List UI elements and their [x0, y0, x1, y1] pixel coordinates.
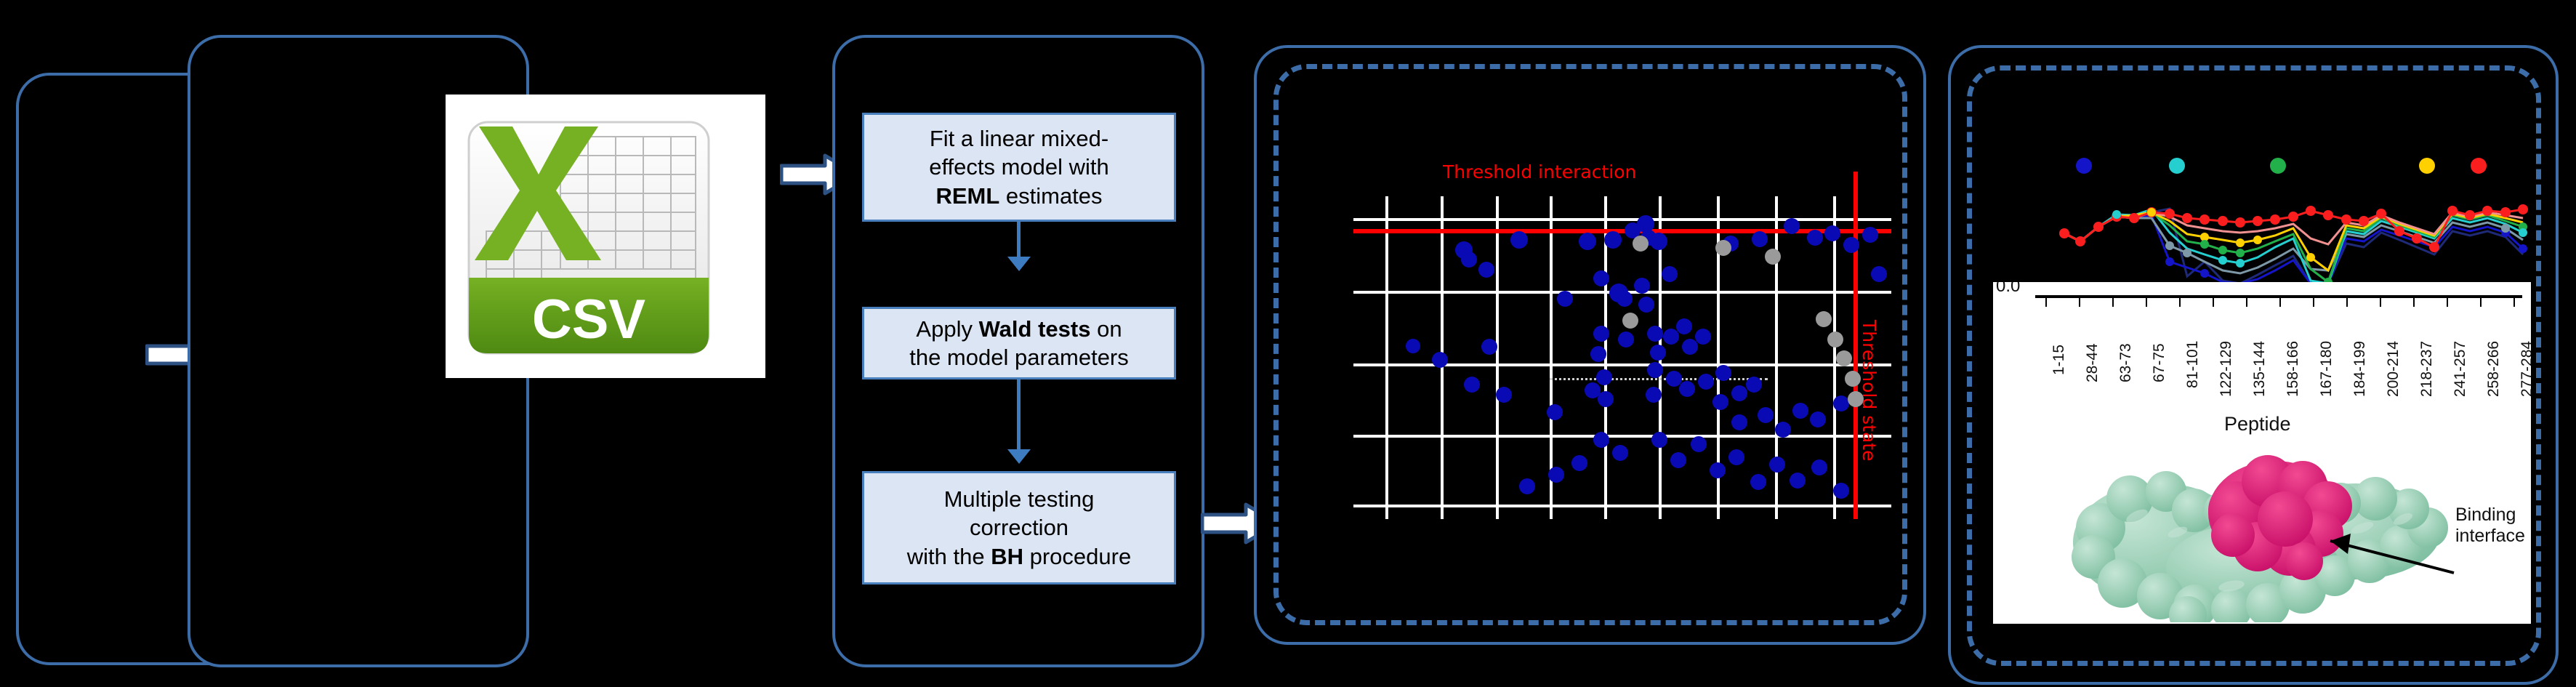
- data-point: [1579, 233, 1596, 250]
- data-point: [1746, 377, 1762, 393]
- legend-dot-green: [2270, 158, 2286, 174]
- outlier-point: [1827, 332, 1843, 347]
- peptide-tick-label: 200-214: [2385, 341, 2402, 397]
- data-point: [1496, 387, 1512, 403]
- binding-interface-annotation: Binding interface: [2455, 505, 2525, 547]
- data-point: [1691, 436, 1707, 452]
- outlier-point: [1765, 249, 1781, 265]
- x-tick: [2413, 298, 2415, 307]
- legend-dot-cyan: [2169, 158, 2185, 174]
- peptide-tick-label: 1-15: [2050, 345, 2068, 375]
- step-bh-line1: Multiple testing: [944, 486, 1095, 512]
- x-axis-line: [2035, 295, 2522, 298]
- x-tick: [2447, 298, 2448, 307]
- gridline-h-3: [1353, 435, 1891, 438]
- outlier-point: [1622, 313, 1638, 329]
- connector-reml-wald: [1017, 222, 1021, 260]
- csv-icon-graphic: CSV: [446, 95, 765, 378]
- outlier-point: [1633, 236, 1649, 252]
- x-tick: [2346, 298, 2348, 307]
- step-wald-keyword: Wald tests: [979, 316, 1091, 342]
- data-point: [1617, 291, 1633, 307]
- data-point: [1510, 231, 1528, 249]
- step-bh-line3a: with the: [907, 544, 991, 569]
- peptide-tick-label: 167-180: [2318, 341, 2335, 397]
- step-reml-line2: effects model with: [929, 154, 1109, 180]
- data-point: [1406, 339, 1420, 353]
- x-tick: [2213, 298, 2214, 307]
- scatter-plot-area: [1353, 196, 1891, 519]
- step-bh-keyword: BH: [991, 544, 1023, 569]
- data-point: [1557, 291, 1573, 307]
- data-point: [1710, 462, 1726, 478]
- data-point: [1784, 218, 1800, 234]
- data-point: [1712, 394, 1728, 410]
- step-wald-box[interactable]: Apply Wald tests on the model parameters: [862, 307, 1176, 379]
- peptide-tick-label: 81-101: [2184, 341, 2202, 388]
- step-reml-keyword: REML: [935, 183, 999, 209]
- data-point: [1862, 227, 1878, 243]
- peptide-tick-label: 67-75: [2151, 343, 2168, 382]
- data-point: [1593, 270, 1609, 286]
- x-tick: [2279, 298, 2281, 307]
- protein-structure-image: [2050, 441, 2457, 622]
- data-point: [1775, 422, 1791, 438]
- x-tick: [2146, 298, 2147, 307]
- data-point: [1752, 231, 1768, 247]
- binding-interface-line2: interface: [2455, 526, 2525, 547]
- connector-reml-wald-arrowhead: [1007, 257, 1031, 271]
- data-point: [1634, 278, 1650, 294]
- legend-dot-yellow: [2419, 158, 2435, 174]
- data-point: [1663, 329, 1679, 345]
- connector-wald-bh-arrowhead: [1007, 449, 1031, 464]
- data-point: [1432, 352, 1448, 368]
- outlier-point: [1816, 311, 1832, 327]
- gridline-v-0: [1385, 196, 1388, 519]
- data-point: [1790, 473, 1806, 489]
- peptide-tick-label: 135-144: [2251, 341, 2269, 397]
- binding-interface-line1: Binding: [2455, 505, 2525, 526]
- x-tick: [2480, 298, 2482, 307]
- peptide-tick-label: 184-199: [2351, 341, 2369, 397]
- data-point: [1670, 452, 1686, 468]
- x-tick: [2112, 298, 2114, 307]
- x-tick: [2246, 298, 2247, 307]
- step-wald-line2: the model parameters: [909, 345, 1129, 370]
- x-axis-title: Peptide: [2224, 413, 2291, 435]
- threshold-interaction-label: Threshold interaction: [1443, 161, 1636, 182]
- data-point: [1618, 332, 1634, 347]
- y-tick-label: 0.0: [1996, 282, 2020, 297]
- threshold-state-line: [1853, 172, 1858, 519]
- peptide-tick-label: 241-257: [2452, 341, 2469, 397]
- peptide-tick-label: 258-266: [2485, 341, 2503, 397]
- data-point: [1598, 391, 1614, 407]
- step-bh-line2: correction: [970, 515, 1068, 540]
- outlier-point: [1836, 350, 1852, 366]
- data-point: [1464, 377, 1480, 393]
- peptide-line-chart: [1993, 145, 2531, 284]
- data-point: [1646, 387, 1662, 403]
- outlier-point: [1715, 240, 1731, 256]
- x-tick: [2079, 298, 2080, 307]
- data-point: [1731, 414, 1747, 430]
- data-point: [1547, 404, 1563, 420]
- data-point: [1662, 266, 1678, 282]
- peptide-tick-label: 158-166: [2285, 341, 2302, 397]
- data-point: [1481, 339, 1497, 355]
- data-point: [1871, 266, 1887, 282]
- data-point: [1811, 459, 1827, 475]
- legend-dot-red: [2471, 158, 2487, 174]
- data-point: [1638, 297, 1654, 313]
- data-point: [1769, 457, 1785, 473]
- data-point: [1792, 403, 1808, 419]
- data-point: [1758, 407, 1774, 423]
- data-point: [1650, 345, 1666, 361]
- data-point: [1593, 432, 1609, 448]
- data-point: [1647, 326, 1663, 342]
- peptide-tick-label: 63-73: [2117, 343, 2135, 382]
- data-point: [1593, 326, 1609, 342]
- data-point: [1810, 411, 1826, 427]
- data-point: [1590, 346, 1606, 362]
- data-point: [1833, 395, 1849, 411]
- data-point: [1695, 329, 1711, 345]
- data-point: [1571, 455, 1587, 471]
- data-point: [1519, 478, 1535, 494]
- data-point: [1548, 467, 1564, 483]
- x-tick: [2513, 298, 2515, 307]
- data-point: [1682, 339, 1698, 355]
- threshold-state-label: Threshold state: [1859, 320, 1880, 461]
- gridline-v-2: [1496, 196, 1499, 519]
- x-tick: [2313, 298, 2314, 307]
- legend-dot-blue: [2076, 158, 2092, 174]
- data-point: [1833, 483, 1849, 499]
- data-point: [1698, 374, 1714, 390]
- data-point: [1731, 385, 1747, 401]
- data-point: [1596, 369, 1612, 385]
- step-reml-line3: estimates: [999, 183, 1102, 209]
- step-bh-line3c: procedure: [1023, 544, 1131, 569]
- peptide-tick-label: 277-284: [2519, 341, 2531, 397]
- connector-wald-bh: [1017, 379, 1021, 452]
- step-wald-line1c: on: [1090, 316, 1122, 342]
- csv-icon-label: CSV: [532, 289, 646, 350]
- x-tick: [2380, 298, 2381, 307]
- x-tick: [2045, 298, 2047, 307]
- data-point: [1651, 432, 1667, 448]
- step-reml-box[interactable]: Fit a linear mixed- effects model with R…: [862, 113, 1176, 222]
- data-point: [1715, 365, 1731, 381]
- data-point: [1807, 230, 1823, 246]
- data-point: [1612, 445, 1628, 461]
- chart-legend: [2076, 158, 2487, 174]
- peptide-tick-label: 122-129: [2218, 341, 2235, 397]
- peptide-tick-label: 28-44: [2084, 343, 2101, 382]
- data-point: [1750, 474, 1766, 490]
- data-point: [1604, 231, 1622, 249]
- gridline-h-0: [1353, 218, 1891, 221]
- data-point: [1824, 225, 1840, 241]
- csv-file-icon: CSV: [446, 95, 765, 378]
- data-point: [1461, 252, 1477, 268]
- data-point: [1843, 237, 1859, 253]
- peptide-tick-label: 218-237: [2418, 341, 2436, 397]
- x-tick: [2179, 298, 2181, 307]
- data-point: [1650, 233, 1667, 250]
- step-reml-line1: Fit a linear mixed-: [930, 126, 1108, 151]
- gridline-dotted: [1550, 378, 1768, 380]
- step-wald-line1a: Apply: [916, 316, 978, 342]
- data-point: [1676, 318, 1692, 334]
- gridline-h-4: [1353, 505, 1891, 507]
- step-bh-box[interactable]: Multiple testing correction with the BH …: [862, 471, 1176, 584]
- results-inset-figure: 0.0 1-15 28-44 63-73 67-75 81-101 122-12…: [1993, 282, 2531, 624]
- data-point: [1728, 449, 1744, 465]
- data-point: [1679, 381, 1695, 397]
- data-point: [1647, 362, 1663, 378]
- data-point: [1478, 262, 1494, 278]
